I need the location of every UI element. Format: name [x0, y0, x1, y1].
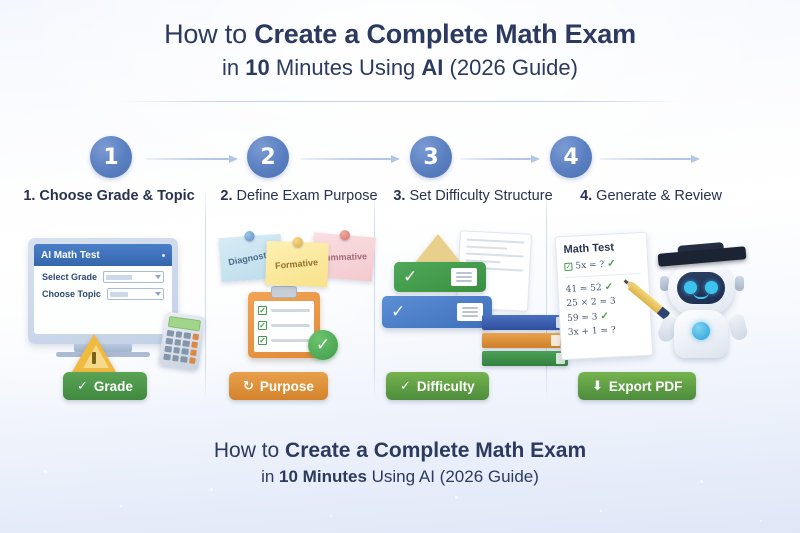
calculator-icon [158, 311, 205, 370]
title-line-2: in 10 Minutes Using AI (2026 Guide) [0, 51, 800, 84]
check-icon: ✓ [564, 262, 572, 270]
check-icon: ✓ [604, 282, 613, 293]
chevron-down-icon [155, 292, 161, 296]
step-illustration-3: ✓ ✓ [378, 230, 568, 370]
check-icon: ✓ [600, 311, 609, 322]
check-icon: ✓ [400, 379, 411, 394]
select-grade-label: Select Grade [42, 272, 97, 282]
check-icon: ✓ [607, 258, 616, 269]
status-dot-icon [162, 254, 165, 257]
step-circle-4[interactable]: 4 [550, 136, 592, 178]
robot-core-light [692, 322, 710, 340]
select-grade-dropdown[interactable] [103, 271, 164, 283]
step-circle-3[interactable]: 3 [410, 136, 452, 178]
step-rail: 1 2 3 4 [0, 136, 800, 184]
sheet-divider [565, 273, 641, 278]
check-icon: ✓ [258, 306, 267, 315]
footer-title: How to Create a Complete Math Exam in 10… [0, 437, 800, 491]
infographic-poster: How to Create a Complete Math Exam in 10… [0, 0, 800, 533]
step-heading-3: 3. Set Difficulty Structure [378, 186, 568, 226]
grade-button[interactable]: ✓ Grade [63, 372, 147, 400]
robot-ear-right [735, 276, 744, 291]
pushpin-icon [340, 230, 350, 240]
equation-row-3: 25 × 2 = 3 [566, 295, 642, 309]
equation-row-5: 3x + 1 = ? [568, 324, 644, 338]
step-circle-2[interactable]: 2 [247, 136, 289, 178]
equation-row-1: ✓ 5x = ? ✓ [564, 257, 640, 272]
title-line-1: How to Create a Complete Math Exam [0, 18, 800, 51]
double-check-icon: ✓ [77, 379, 88, 394]
arrow-1-to-2 [146, 155, 238, 163]
monitor-illustration: AI Math Test Select Grade Choose Topic [28, 238, 178, 344]
equation-row-4: 59 = 3 ✓ [567, 309, 643, 324]
robot-smile [693, 292, 709, 299]
robot-head [668, 262, 734, 316]
arrow-3-to-4 [460, 155, 540, 163]
step-circle-1[interactable]: 1 [90, 136, 132, 178]
purpose-button-label: Purpose [260, 379, 314, 394]
download-icon: ⬇ [592, 379, 603, 394]
success-check-badge: ✓ [308, 330, 338, 360]
sheet-title: Math Test [563, 240, 640, 256]
check-icon: ✓ [403, 267, 417, 287]
action-buttons: ✓ Grade ↻ Purpose ✓ Difficulty ⬇ Export … [0, 372, 800, 402]
chevron-down-icon [155, 275, 161, 279]
robot-body [674, 310, 728, 358]
check-icon: ✓ [258, 321, 267, 330]
choose-topic-dropdown[interactable] [107, 288, 164, 300]
footer-line-2: in 10 Minutes Using AI (2026 Guide) [0, 464, 800, 490]
sticky-note-formative: Formative [265, 241, 328, 287]
export-pdf-button-label: Export PDF [609, 379, 683, 394]
difficulty-button[interactable]: ✓ Difficulty [386, 372, 489, 400]
pyramid-bottom-tier: ✓ [382, 296, 492, 328]
robot-illustration [658, 244, 746, 362]
pyramid-middle-tier: ✓ [394, 262, 486, 292]
robot-face [677, 272, 725, 304]
book-orange [482, 333, 563, 348]
warning-exclamation [92, 352, 96, 364]
app-title: AI Math Test [41, 250, 100, 261]
footer-line-1: How to Create a Complete Math Exam [0, 437, 800, 464]
app-title-bar: AI Math Test [34, 244, 172, 266]
arrow-4-trailing [600, 155, 700, 163]
clipboard-clamp [271, 286, 297, 298]
purpose-button[interactable]: ↻ Purpose [229, 372, 328, 400]
select-grade-row: Select Grade [34, 266, 172, 283]
step-heading-4: 4. Generate & Review [556, 186, 746, 226]
step-illustration-2: Diagnostic Formative Summative ✓ ✓ [204, 230, 394, 370]
robot-arm-right [727, 312, 749, 341]
page-title: How to Create a Complete Math Exam in 10… [0, 18, 800, 84]
check-icon: ✓ [258, 336, 267, 345]
refresh-icon: ↻ [243, 379, 254, 394]
warning-inner [83, 345, 109, 368]
step-heading-1: 1. Choose Grade & Topic [14, 186, 204, 226]
grade-button-label: Grade [94, 379, 133, 394]
difficulty-button-label: Difficulty [417, 379, 475, 394]
check-icon: ✓ [391, 302, 405, 322]
title-divider [120, 101, 680, 102]
export-pdf-button[interactable]: ⬇ Export PDF [578, 372, 696, 400]
step-illustration-1: AI Math Test Select Grade Choose Topic [14, 230, 204, 370]
arrow-2-to-3 [300, 155, 400, 163]
pushpin-icon [292, 237, 303, 248]
choose-topic-row: Choose Topic [34, 283, 172, 300]
pyramid-top-tier [414, 234, 462, 264]
step-illustration-4: Math Test ✓ 5x = ? ✓ 41 = 52 ✓ 25 × 2 = … [556, 230, 746, 370]
step-heading-2: 2. Define Exam Purpose [204, 186, 394, 226]
choose-topic-label: Choose Topic [42, 289, 101, 299]
pushpin-icon [244, 230, 256, 242]
